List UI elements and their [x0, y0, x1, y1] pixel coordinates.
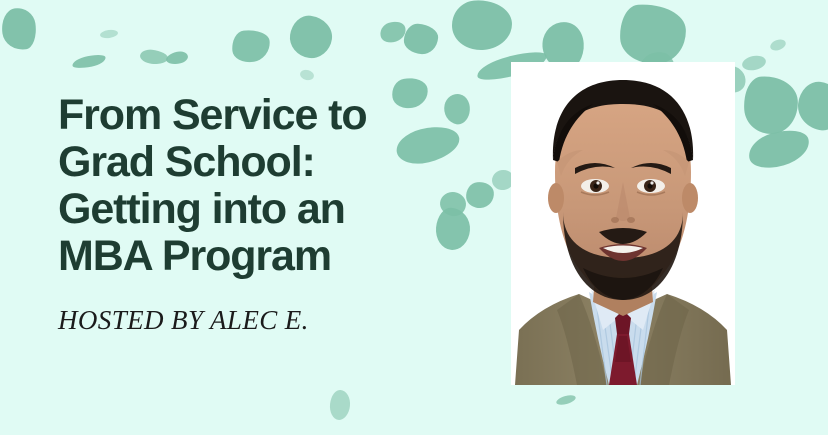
brush-stroke [287, 13, 334, 60]
brush-stroke [618, 2, 687, 65]
event-host-line: HOSTED BY ALEC E. [58, 305, 478, 336]
brush-stroke [555, 393, 576, 406]
brush-stroke [745, 124, 814, 174]
banner-text-block: From Service to Grad School: Getting int… [58, 92, 478, 336]
brush-stroke [796, 80, 828, 132]
brush-stroke [742, 74, 800, 136]
brush-stroke [0, 6, 39, 52]
speaker-portrait-image [511, 62, 735, 385]
brush-stroke [450, 0, 514, 53]
brush-stroke [165, 50, 189, 67]
event-title: From Service to Grad School: Getting int… [58, 92, 478, 279]
event-banner: From Service to Grad School: Getting int… [0, 0, 828, 435]
brush-stroke [299, 68, 315, 81]
brush-stroke [230, 28, 271, 64]
brush-stroke [139, 49, 168, 66]
brush-stroke [100, 29, 119, 39]
brush-stroke [378, 18, 409, 45]
brush-stroke [769, 38, 787, 53]
brush-stroke [403, 23, 439, 55]
brush-stroke [71, 53, 106, 70]
brush-stroke [328, 389, 351, 421]
brush-stroke [741, 54, 767, 73]
speaker-photo [511, 62, 735, 385]
